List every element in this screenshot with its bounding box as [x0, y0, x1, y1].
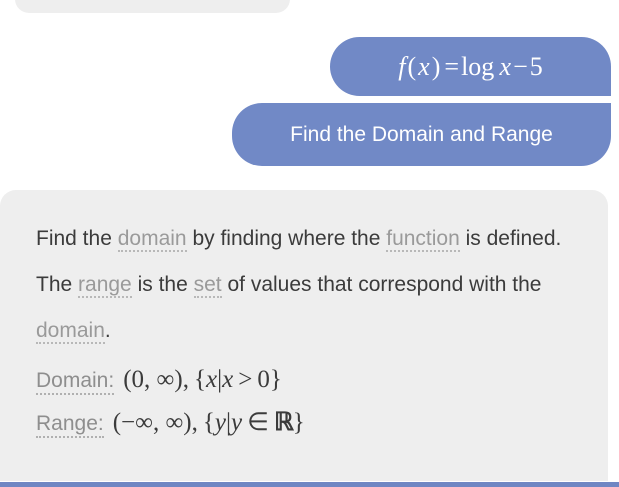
range-result-row: Range: (−∞, ∞), {y|y ∈ ℝ} [36, 407, 608, 438]
formula-minus: − [511, 52, 530, 81]
domain-interval: (0, ∞) [123, 366, 182, 393]
glossary-link-range[interactable]: range [78, 273, 132, 298]
explanation-text-5: of values that correspond with the [222, 273, 542, 296]
formula-variable: x [418, 52, 430, 81]
range-comma: , [192, 409, 198, 436]
range-interval: (−∞, ∞) [113, 409, 192, 436]
formula-expression: f(x)=log x−5 [398, 52, 542, 82]
range-label[interactable]: Range: [36, 412, 104, 438]
domain-relation: > [238, 366, 252, 393]
formula-function-name: f [398, 52, 405, 81]
range-relation: ∈ [247, 409, 269, 436]
range-set-open: { [203, 409, 215, 436]
explanation-text-1: Find the [36, 227, 118, 250]
explanation-text-4: is the [132, 273, 194, 296]
bottom-accent-bar [0, 482, 619, 487]
domain-set-close: } [270, 366, 282, 393]
formula-constant: 5 [530, 52, 543, 81]
answer-panel: Find the domain by finding where the fun… [0, 190, 608, 481]
formula-log-operator: log [461, 52, 494, 81]
question-prompt-label: Find the Domain and Range [290, 123, 553, 147]
question-formula-bubble: f(x)=log x−5 [330, 37, 611, 96]
explanation-text-2: by finding where the [187, 227, 387, 250]
domain-bound-value: 0 [257, 366, 270, 393]
question-prompt-bubble[interactable]: Find the Domain and Range [232, 103, 611, 166]
domain-result-row: Domain: (0, ∞), {x|x > 0} [36, 366, 608, 395]
domain-set-open: { [194, 366, 206, 393]
domain-label[interactable]: Domain: [36, 369, 114, 395]
domain-set-var-2: x [222, 366, 233, 393]
formula-close-paren: ) [430, 52, 443, 81]
glossary-link-domain[interactable]: domain [118, 227, 187, 252]
explanation-text-6: . [105, 319, 111, 342]
range-real-numbers-symbol: ℝ [274, 409, 293, 436]
glossary-link-domain-2[interactable]: domain [36, 319, 105, 344]
answer-explanation: Find the domain by finding where the fun… [36, 216, 581, 354]
range-value: (−∞, ∞), {y|y ∈ ℝ} [113, 407, 305, 437]
range-set-var-1: y [215, 409, 226, 436]
range-set-var-2: y [231, 409, 242, 436]
glossary-link-set[interactable]: set [194, 273, 222, 298]
previous-card-partial [15, 0, 290, 13]
domain-comma: , [183, 366, 189, 393]
glossary-link-function[interactable]: function [386, 227, 460, 252]
formula-equals: = [442, 52, 461, 81]
range-set-close: } [293, 409, 305, 436]
formula-log-argument: x [500, 52, 512, 81]
formula-open-paren: ( [406, 52, 419, 81]
domain-set-var-1: x [206, 366, 217, 393]
domain-value: (0, ∞), {x|x > 0} [123, 366, 282, 394]
